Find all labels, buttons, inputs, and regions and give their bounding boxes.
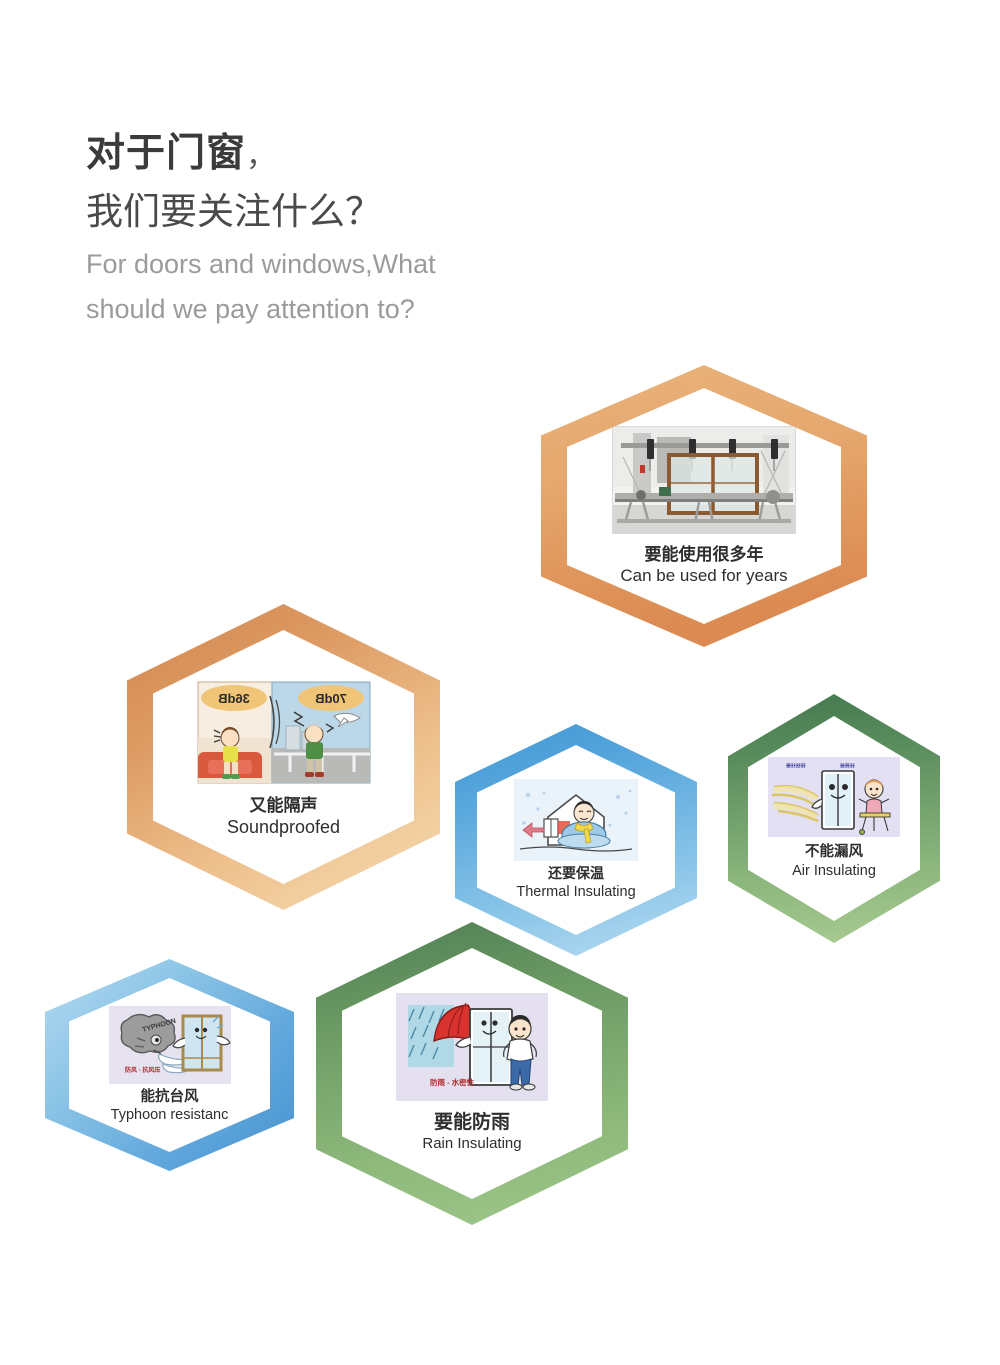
svg-text:防风 - 抗风压: 防风 - 抗风压 [125,1066,160,1074]
durability-label-cn: 要能使用很多年 [645,544,764,565]
hexagon-air[interactable]: ䷀䷁䷂䷃ ䷄䷅䷆ [728,694,940,943]
typhoon-label-en: Typhoon resistanc [111,1106,229,1124]
durability-label-en: Can be used for years [620,565,787,586]
page-title-cn: 对于门窗， [86,132,646,177]
hexagon-thermal[interactable]: 还要保温 Thermal Insulating [455,724,697,956]
page-title-cn-line2: 我们要关注什么？ [86,187,646,237]
air-label-cn: 不能漏风 [805,843,863,861]
rain-label-cn: 要能防雨 [434,1111,510,1135]
typhoon-illustration: TYPHOON [109,1006,231,1084]
hexagon-typhoon[interactable]: TYPHOON [45,959,294,1171]
thermal-label-en: Thermal Insulating [516,883,635,901]
hexagon-soundproof[interactable]: 36dB [127,604,440,910]
rain-illustration: 防雨 - 水密性 [396,993,548,1101]
page-header: 对于门窗， 我们要关注什么？ For doors and windows,Wha… [86,132,646,328]
typhoon-label-cn: 能抗台风 [141,1088,199,1106]
svg-text:䷄䷅䷆: ䷄䷅䷆ [840,762,855,769]
durability-photo [612,426,796,534]
hexagon-durability[interactable]: 要能使用很多年 Can be used for years [541,365,867,647]
page-title-comma: ， [246,140,277,173]
page-subtitle-en-line2: should we pay attention to? [86,291,646,327]
thermal-illustration [514,779,638,861]
svg-text:䷀䷁䷂䷃: ䷀䷁䷂䷃ [786,762,806,769]
thermal-label-cn: 还要保温 [548,865,604,883]
page-subtitle-en-line1: For doors and windows,What [86,246,646,282]
svg-text:36dB: 36dB [218,691,250,706]
svg-text:70dB: 70dB [315,691,347,706]
soundproof-illustration: 36dB [194,676,374,789]
soundproof-label-cn: 又能隔声 [250,795,318,816]
hexagon-rain[interactable]: 防雨 - 水密性 要能防雨 Rain Insulating [316,922,628,1225]
air-seal-illustration: ䷀䷁䷂䷃ ䷄䷅䷆ [768,757,900,837]
soundproof-label-en: Soundproofed [227,816,340,839]
air-label-en: Air Insulating [792,862,876,880]
rain-label-en: Rain Insulating [422,1135,521,1154]
svg-text:防雨 - 水密性: 防雨 - 水密性 [430,1077,475,1087]
page-title-cn-bold: 对于门窗 [86,132,246,175]
